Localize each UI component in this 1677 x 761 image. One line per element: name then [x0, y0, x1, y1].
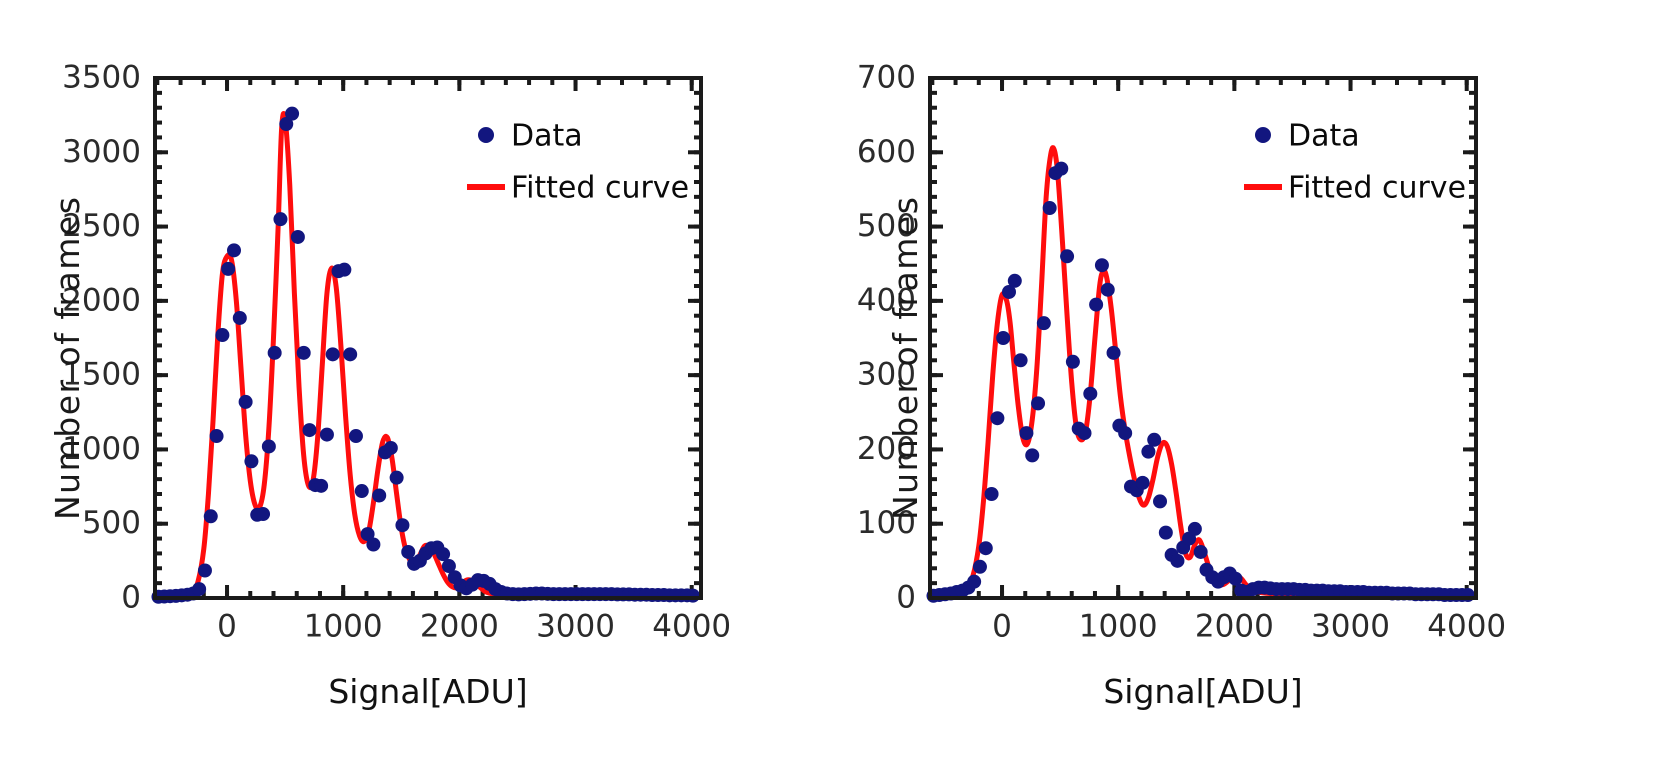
- data-point: [1095, 258, 1109, 272]
- data-point: [973, 560, 987, 574]
- data-point: [297, 346, 311, 360]
- data-point: [215, 328, 229, 342]
- data-point: [1043, 201, 1057, 215]
- data-point: [1031, 396, 1045, 410]
- data-point: [349, 429, 363, 443]
- data-point: [1083, 387, 1097, 401]
- legend-marker-data: [478, 127, 494, 143]
- legend-label: Data: [511, 119, 583, 154]
- x-tick-label: 2000: [420, 608, 499, 644]
- data-point: [1107, 346, 1121, 360]
- data-point: [1060, 249, 1074, 263]
- x-tick-label: 0: [992, 608, 1012, 644]
- data-point: [337, 263, 351, 277]
- data-point: [256, 507, 270, 521]
- data-point: [1025, 448, 1039, 462]
- x-tick-label: 1000: [1079, 608, 1158, 644]
- data-point: [996, 331, 1010, 345]
- x-tick-label: 1000: [304, 608, 383, 644]
- data-point: [1101, 283, 1115, 297]
- data-point: [1078, 426, 1092, 440]
- data-point: [390, 471, 404, 485]
- y-tick-label: 700: [857, 60, 916, 96]
- data-point: [1008, 274, 1022, 288]
- data-point: [326, 347, 340, 361]
- x-tick-label: 0: [217, 608, 237, 644]
- legend-label: Fitted curve: [511, 171, 689, 206]
- data-point: [273, 212, 287, 226]
- y-axis-label-left: Number of frames: [48, 196, 87, 520]
- legend-label: Fitted curve: [1288, 171, 1466, 206]
- data-point: [233, 311, 247, 325]
- x-axis-label-right: Signal[ADU]: [930, 672, 1476, 711]
- chart-panel-left: 0500100015002000250030003500010002000300…: [0, 0, 838, 761]
- figure-root: 0500100015002000250030003500010002000300…: [0, 0, 1677, 761]
- y-tick-label: 0: [896, 580, 916, 616]
- y-tick-label: 0: [121, 580, 141, 616]
- legend-label: Data: [1288, 119, 1360, 154]
- chart-panel-right: 010020030040050060070001000200030004000D…: [838, 0, 1677, 761]
- x-tick-label: 3000: [536, 608, 615, 644]
- data-point: [1188, 522, 1202, 536]
- data-point: [268, 346, 282, 360]
- data-point: [262, 439, 276, 453]
- y-tick-label: 3500: [62, 60, 141, 96]
- data-point: [366, 538, 380, 552]
- y-tick-label: 600: [857, 134, 916, 170]
- x-tick-label: 2000: [1195, 608, 1274, 644]
- data-point: [1153, 494, 1167, 508]
- data-point: [686, 589, 700, 603]
- data-point: [990, 411, 1004, 425]
- data-point: [1054, 162, 1068, 176]
- data-point: [395, 518, 409, 532]
- data-point: [967, 575, 981, 589]
- data-point: [239, 395, 253, 409]
- data-point: [372, 488, 386, 502]
- data-point: [1014, 353, 1028, 367]
- data-point: [320, 428, 334, 442]
- data-point: [343, 347, 357, 361]
- y-tick-label: 500: [82, 505, 141, 541]
- data-point: [244, 454, 258, 468]
- x-axis-label-left: Signal[ADU]: [155, 672, 701, 711]
- data-point: [1066, 355, 1080, 369]
- data-point: [204, 509, 218, 523]
- data-point: [1089, 298, 1103, 312]
- x-tick-label: 3000: [1311, 608, 1390, 644]
- data-point: [1170, 554, 1184, 568]
- data-point: [401, 545, 415, 559]
- data-point: [979, 541, 993, 555]
- data-point: [1141, 445, 1155, 459]
- data-point: [1136, 476, 1150, 490]
- data-point: [192, 582, 206, 596]
- data-point: [1118, 426, 1132, 440]
- plot-area-right: 010020030040050060070001000200030004000D…: [838, 0, 1677, 761]
- data-point: [303, 423, 317, 437]
- x-tick-label: 4000: [1427, 608, 1506, 644]
- data-point: [285, 107, 299, 121]
- data-point: [985, 487, 999, 501]
- plot-area-left: 0500100015002000250030003500010002000300…: [0, 0, 838, 761]
- data-point: [314, 479, 328, 493]
- data-point: [1229, 572, 1243, 586]
- x-tick-label: 4000: [652, 608, 731, 644]
- data-point: [1194, 545, 1208, 559]
- data-point: [221, 262, 235, 276]
- y-axis-label-right: Number of frames: [886, 196, 925, 520]
- data-point: [384, 441, 398, 455]
- data-point: [1019, 426, 1033, 440]
- data-point: [291, 230, 305, 244]
- data-point: [436, 547, 450, 561]
- data-point: [227, 243, 241, 257]
- data-point: [355, 484, 369, 498]
- data-point: [1147, 433, 1161, 447]
- data-point: [1037, 316, 1051, 330]
- data-point: [1159, 526, 1173, 540]
- y-tick-label: 3000: [62, 134, 141, 170]
- data-point: [198, 564, 212, 578]
- data-point: [210, 429, 224, 443]
- legend-marker-data: [1255, 127, 1271, 143]
